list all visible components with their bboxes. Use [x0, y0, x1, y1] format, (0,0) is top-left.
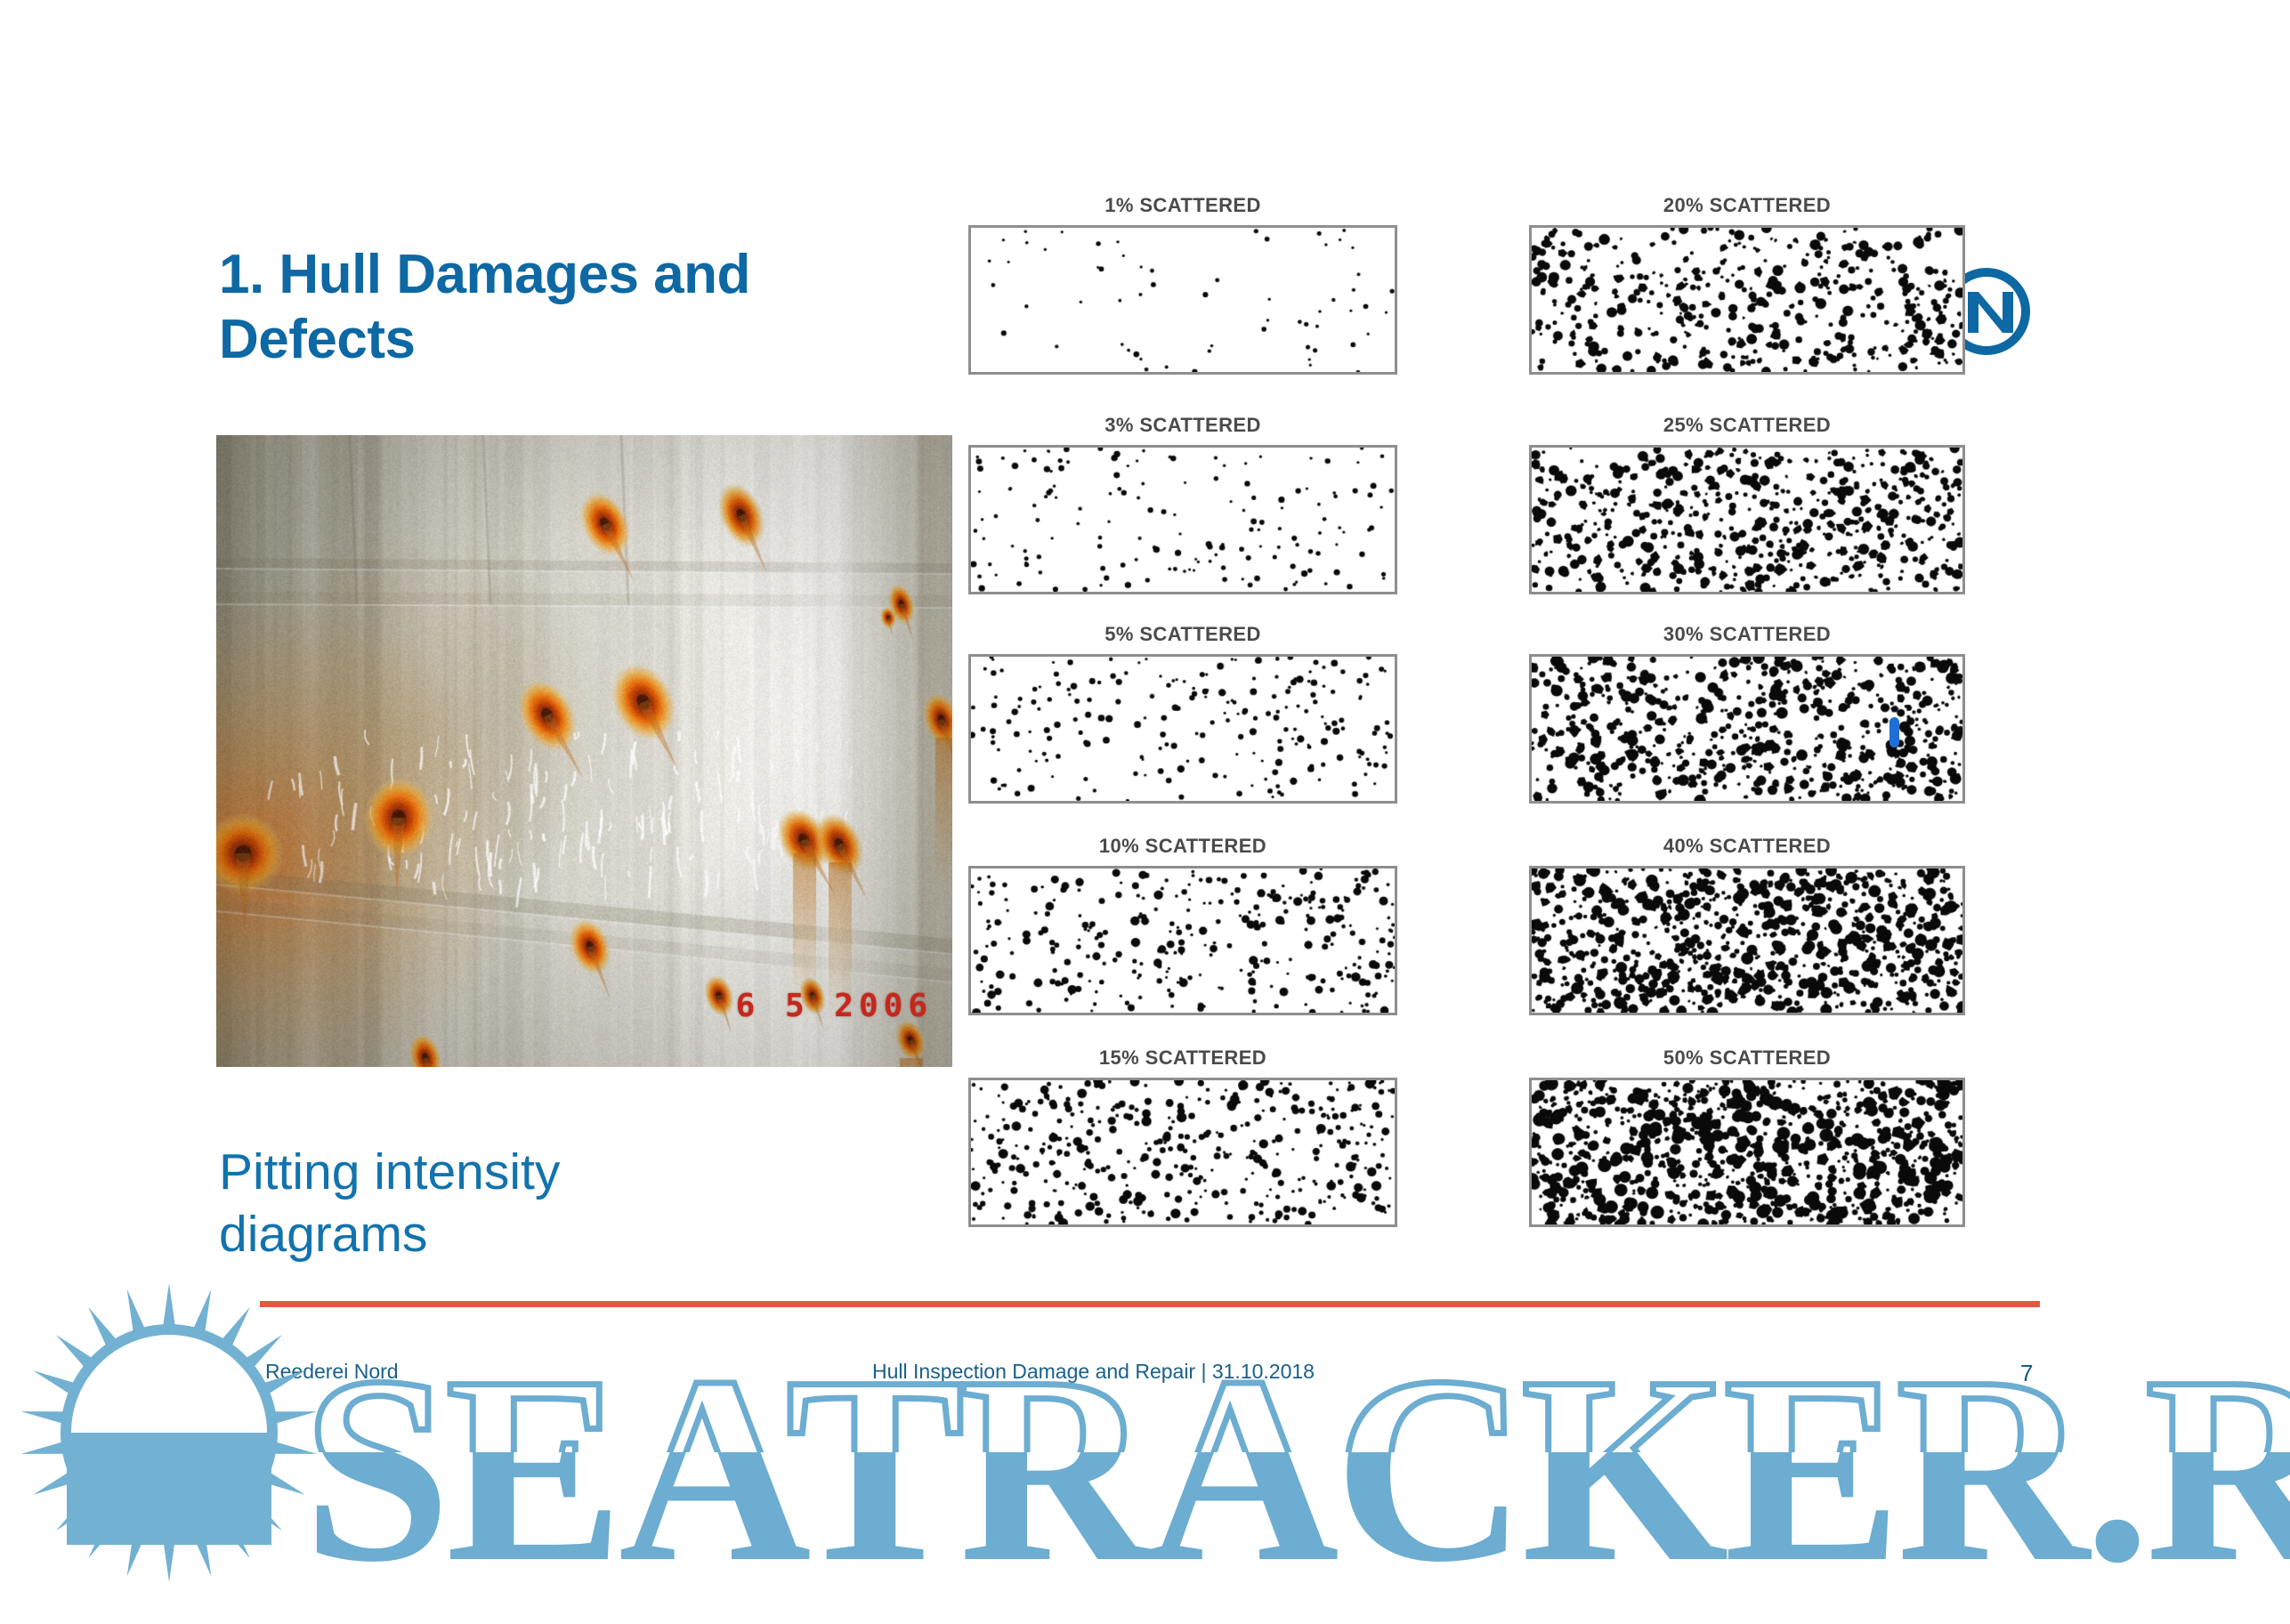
pitting-panel-30: 30% SCATTERED [1529, 623, 1965, 804]
pitting-panel-label: 40% SCATTERED [1529, 835, 1965, 858]
pitting-panel-label: 5% SCATTERED [968, 623, 1397, 646]
pitting-panel-label: 50% SCATTERED [1529, 1046, 1965, 1070]
photo-datestamp: 6 5 2006 [736, 988, 933, 1024]
sunburst-logo [18, 1281, 320, 1584]
pitting-panel-1: 1% SCATTERED [968, 194, 1397, 375]
pitting-panel-canvas-wrap [1529, 1078, 1965, 1227]
pitting-panel-canvas-wrap [1529, 445, 1965, 594]
pitting-panel-label: 30% SCATTERED [1529, 623, 1965, 646]
pitting-dots [971, 1080, 1395, 1224]
pitting-panel-label: 3% SCATTERED [968, 414, 1397, 437]
pitting-dots [971, 228, 1395, 372]
pitting-dots [971, 448, 1395, 592]
pitting-panel-3: 3% SCATTERED [968, 414, 1397, 594]
pitting-dots [1532, 869, 1962, 1013]
pitting-panel-label: 25% SCATTERED [1529, 414, 1965, 437]
pitting-panel-canvas-wrap [1529, 225, 1965, 375]
pitting-panel-canvas-wrap [968, 654, 1397, 804]
footer-page-number: 7 [2020, 1360, 2033, 1387]
pitting-panel-label: 10% SCATTERED [968, 835, 1397, 858]
pitting-dots [1532, 448, 1962, 592]
hull-corrosion-photo: 6 5 2006 [216, 435, 952, 1067]
pitting-panel-canvas-wrap [1529, 654, 1965, 804]
page-title: 1. Hull Damages and Defects [219, 242, 895, 372]
pitting-panel-canvas-wrap [1529, 866, 1965, 1015]
pitting-panel-canvas-wrap [968, 1078, 1397, 1227]
pitting-panel-label: 1% SCATTERED [968, 194, 1397, 217]
footer-divider [260, 1301, 2040, 1307]
footer-subject: Hull Inspection Damage and Repair | 31.1… [872, 1360, 1315, 1384]
pitting-intensity-grid: 1% SCATTERED20% SCATTERED3% SCATTERED25%… [968, 194, 2045, 1289]
pitting-panel-40: 40% SCATTERED [1529, 835, 1965, 1015]
pitting-panel-15: 15% SCATTERED [968, 1046, 1397, 1227]
pitting-panel-25: 25% SCATTERED [1529, 414, 1965, 594]
photo-caption: Pitting intensity diagrams [219, 1142, 789, 1265]
pitting-dots [1532, 228, 1962, 372]
pitting-panel-label: 20% SCATTERED [1529, 194, 1965, 217]
blue-marker-artifact [1889, 717, 1899, 747]
pitting-panel-5: 5% SCATTERED [968, 623, 1397, 804]
pitting-panel-canvas-wrap [968, 866, 1397, 1015]
pitting-dots [971, 657, 1395, 801]
pitting-dots [1532, 1080, 1962, 1224]
pitting-panel-canvas-wrap [968, 225, 1397, 375]
hull-photo-canvas [216, 435, 952, 1067]
pitting-panel-canvas-wrap [968, 445, 1397, 594]
pitting-dots [971, 869, 1395, 1013]
presentation-slide: 1. Hull Damages and Defects 6 5 2006 Pit… [0, 0, 2290, 1619]
pitting-panel-label: 15% SCATTERED [968, 1046, 1397, 1070]
pitting-panel-20: 20% SCATTERED [1529, 194, 1965, 375]
pitting-panel-10: 10% SCATTERED [968, 835, 1397, 1015]
pitting-panel-50: 50% SCATTERED [1529, 1046, 1965, 1227]
